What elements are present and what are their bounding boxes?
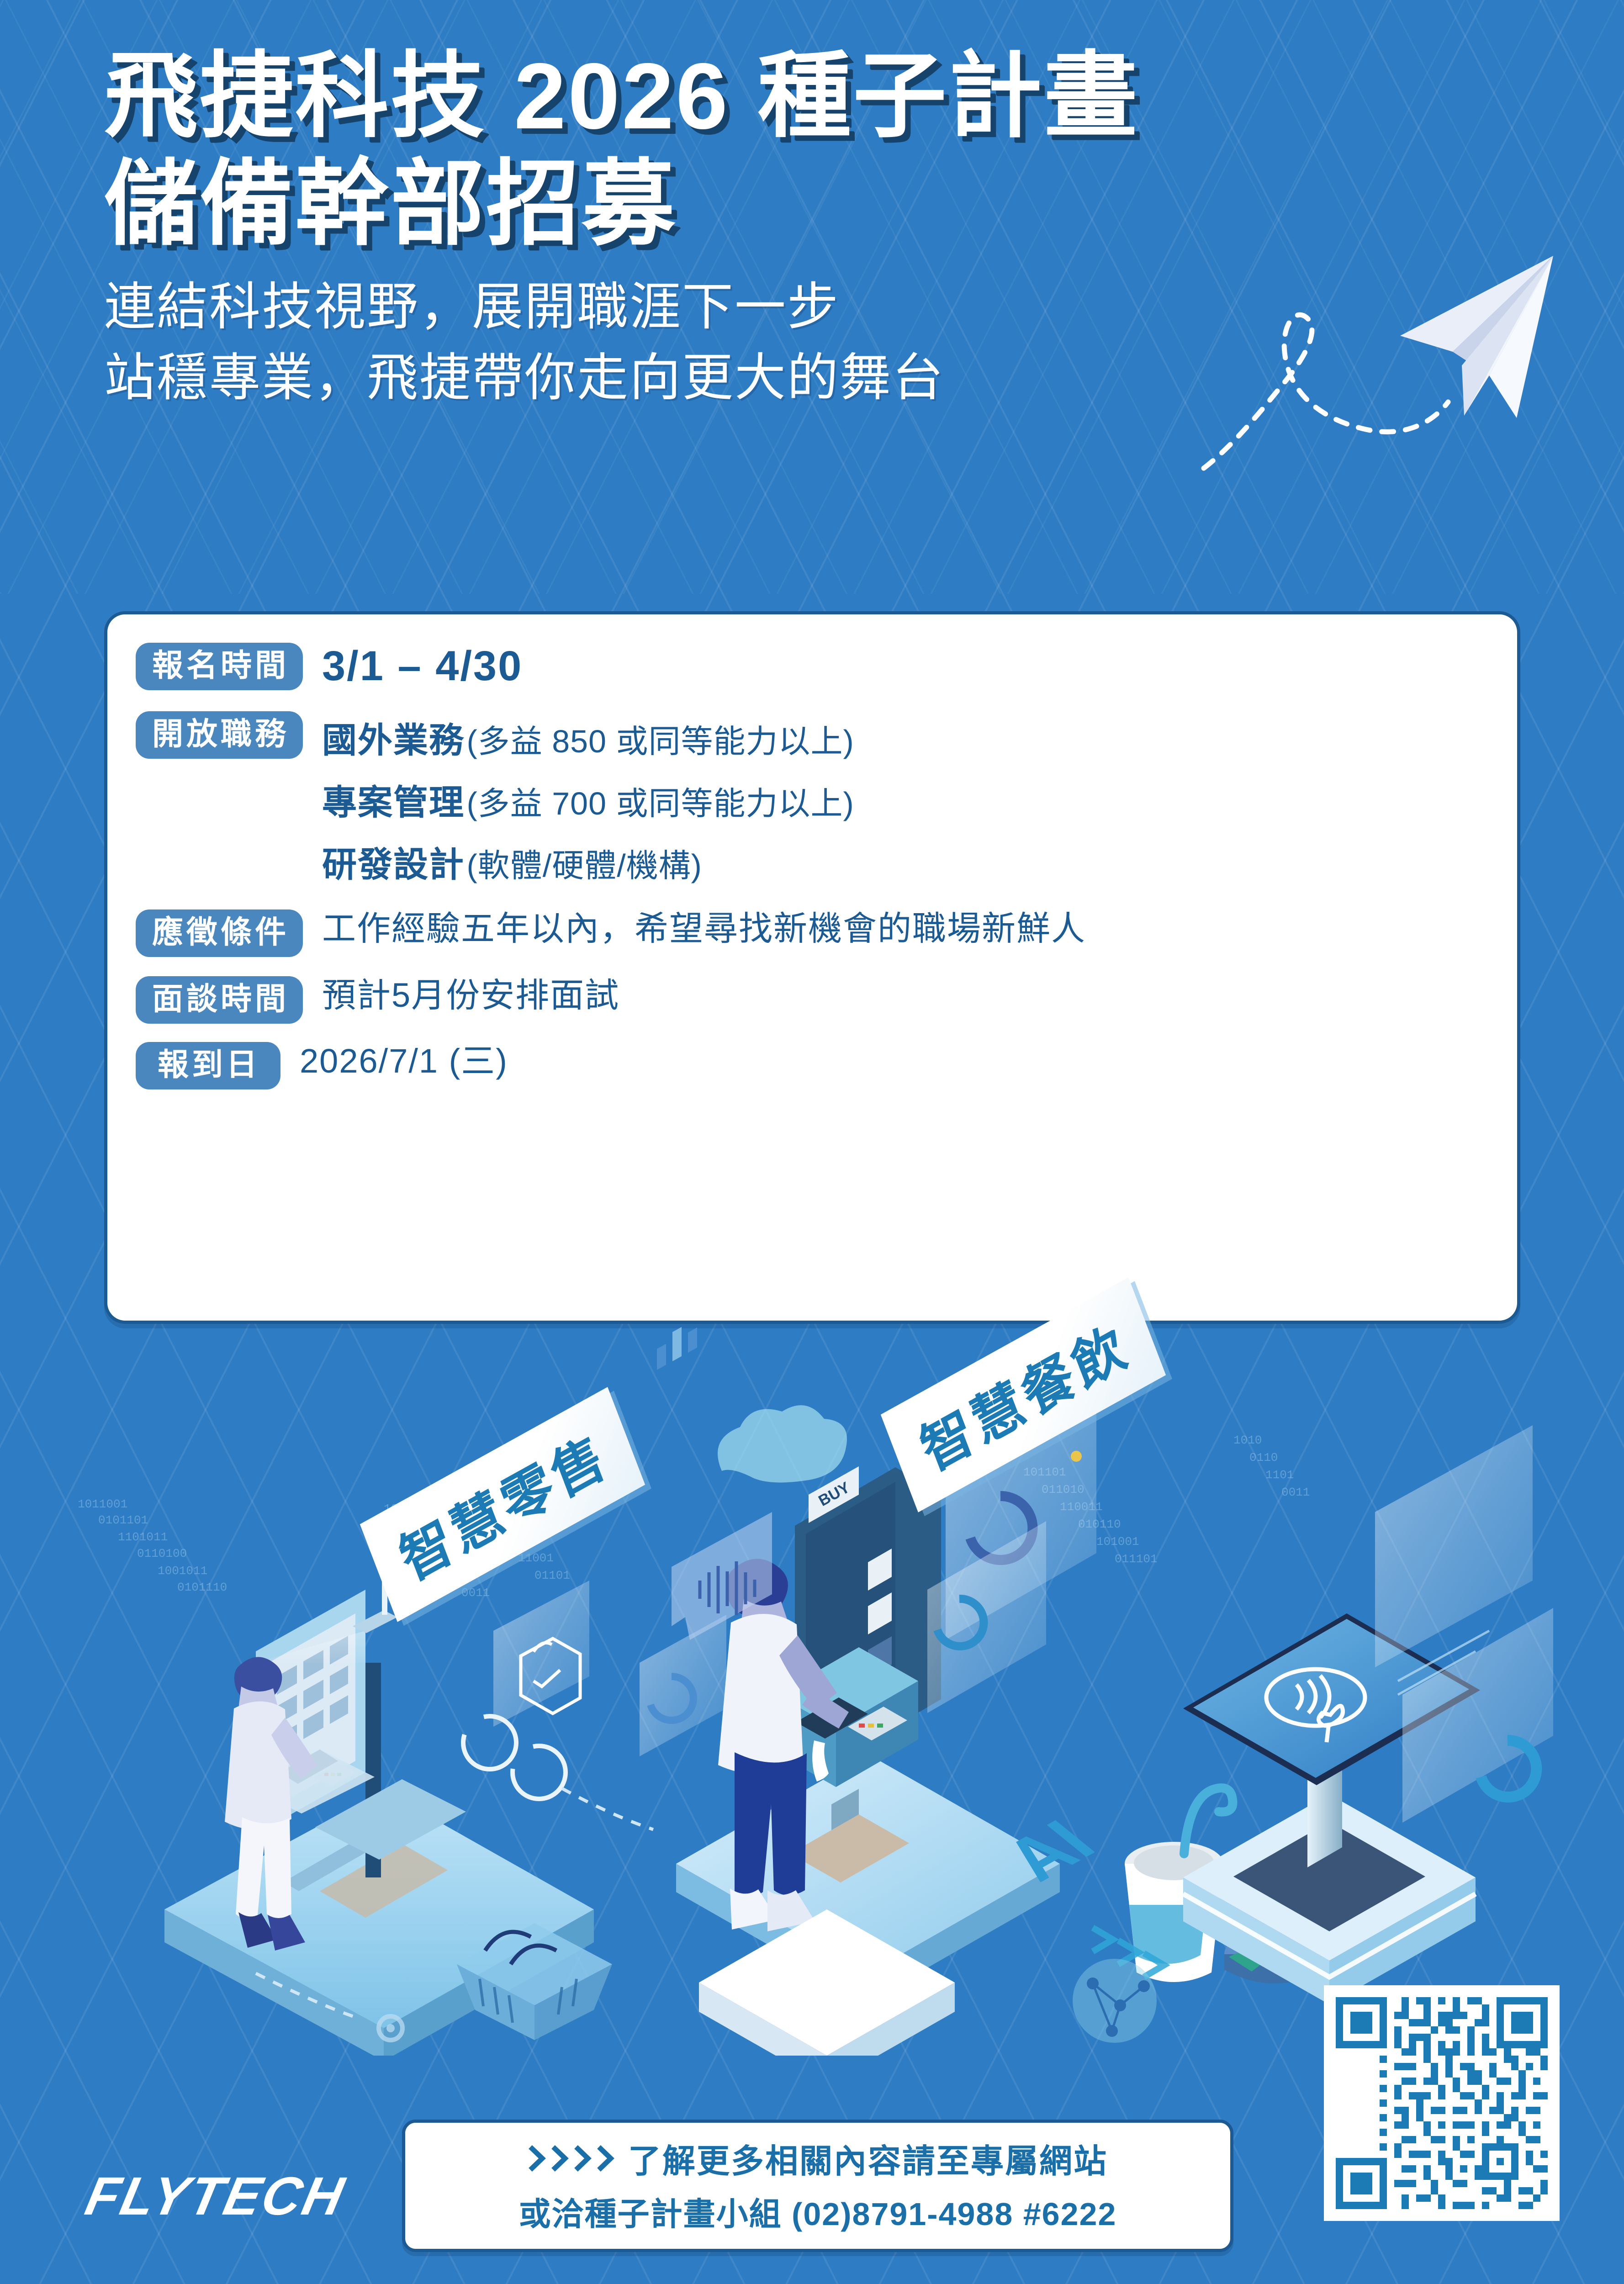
value-wrap-registration-period: 3/1 – 4/30 — [322, 643, 523, 689]
retail-kiosk-screen — [269, 1613, 355, 1810]
dining-dashboard-card-1 — [946, 1316, 1096, 1640]
retail-platform-side-r — [384, 1909, 594, 2056]
job-note: (軟體/硬體/機構) — [466, 848, 702, 883]
payment-base-side-l — [1183, 1877, 1329, 2004]
sign-smart-retail: 智慧零售 — [360, 1387, 645, 1622]
retail-platform-top — [164, 1791, 594, 2028]
contact-info-box: 了解更多相關內容請至專屬網站 或洽種子計畫小組 (02)8791-4988 #6… — [402, 2120, 1233, 2252]
payment-screen-frame — [1183, 1613, 1480, 1785]
svg-text:0011: 0011 — [461, 1586, 490, 1600]
payment-floating-card-donut — [1402, 1316, 1553, 1823]
binary-rain-texture: 10110010101101 11010110110100 1001011010… — [78, 1433, 1310, 1600]
scene-smart-dining: BUY — [672, 1316, 1325, 2002]
retail-keypad — [315, 1763, 356, 1786]
svg-text:1101: 1101 — [445, 1570, 474, 1583]
dining-platform-top — [676, 1754, 1060, 1973]
dining-dashboard-card-2 — [927, 1316, 1046, 1713]
info-row-open-positions: 開放職務 國外業務 (多益 850 或同等能力以上) 專案管理 (多益 700 … — [136, 711, 1499, 887]
svg-text:1101: 1101 — [1265, 1468, 1294, 1482]
camera-mast — [382, 1571, 387, 1615]
value-onboarding-date: 2026/7/1 (三) — [300, 1043, 508, 1079]
info-row-onboarding-date: 報到日 2026/7/1 (三) — [136, 1042, 1499, 1089]
retail-shopper-figure — [225, 1657, 317, 1951]
scene-smart-payment — [1183, 1316, 1553, 2004]
camera-scan-cone — [256, 1631, 365, 1663]
retail-floating-card-bag — [493, 1581, 589, 1727]
kiosk-pole — [365, 1663, 381, 1877]
dining-kiosk-pole — [831, 1789, 859, 1875]
svg-text:0101101: 0101101 — [98, 1513, 148, 1527]
retail-floating-card-chart — [640, 1327, 726, 1756]
camera-head — [353, 1610, 397, 1633]
payment-screen — [1193, 1619, 1469, 1778]
dining-menu-thumbnails — [868, 1549, 892, 1678]
dining-terminal-side — [777, 1695, 836, 1787]
receipt-paper — [812, 1740, 829, 1782]
value-registration-period: 3/1 – 4/30 — [322, 644, 523, 689]
job-note: (多益 700 或同等能力以上) — [466, 786, 854, 821]
svg-text:010110: 010110 — [1078, 1517, 1121, 1531]
shopping-basket-icon — [457, 1923, 612, 2040]
label-open-positions: 開放職務 — [136, 711, 303, 759]
payment-light-streaks — [1398, 1631, 1489, 1695]
burger-icon — [1224, 1910, 1325, 1983]
svg-text:011101: 011101 — [1115, 1552, 1158, 1566]
poster-header: 飛捷科技 2026 種子計畫 儲備幹部招募 連結科技視野，展開職涯下一步 站穩專… — [104, 44, 1429, 413]
ai-block: AI — [699, 1808, 1111, 2056]
retail-ring-2 — [513, 1746, 566, 1799]
svg-text:101001: 101001 — [1096, 1535, 1139, 1549]
svg-text:01101: 01101 — [534, 1569, 570, 1582]
retail-kiosk-screen-frame — [256, 1590, 365, 1834]
dining-keypad — [848, 1707, 907, 1740]
recruitment-poster: 飛捷科技 2026 種子計畫 儲備幹部招募 連結科技視野，展開職涯下一步 站穩專… — [0, 0, 1624, 2284]
payment-inset — [1233, 1822, 1425, 1931]
value-wrap-requirements: 工作經驗五年以內，希望尋找新機會的職場新鮮人 — [322, 909, 1086, 947]
voice-bubble — [672, 1512, 772, 1640]
job-name: 專案管理 — [322, 783, 465, 822]
value-wrap-interview-period: 預計5月份安排面試 — [322, 976, 619, 1014]
qr-code-svg — [1336, 1997, 1548, 2209]
poster-subtitle-line-2: 站穩專業，飛捷帶你走向更大的舞台 — [104, 343, 1429, 413]
poster-title-line-1: 飛捷科技 2026 種子計畫 — [104, 44, 1429, 149]
svg-text:011010: 011010 — [1042, 1483, 1084, 1496]
buy-tag: BUY — [809, 1466, 859, 1523]
poster-subtitle-line-1: 連結科技視野，展開職涯下一步 — [104, 272, 1429, 343]
svg-text:0101110: 0101110 — [177, 1581, 227, 1594]
info-row-registration-period: 報名時間 3/1 – 4/30 — [136, 643, 1499, 690]
value-requirements: 工作經驗五年以內，希望尋找新機會的職場新鮮人 — [322, 910, 1086, 947]
dining-kiosk-screen — [806, 1482, 895, 1729]
cloud-icon — [718, 1405, 847, 1482]
info-rows: 報名時間 3/1 – 4/30 開放職務 國外業務 (多益 850 或同等能力以… — [136, 636, 1499, 1089]
drink-cup-icon — [1125, 1788, 1233, 1982]
buy-tag-text: BUY — [815, 1479, 852, 1510]
label-registration-period: 報名時間 — [136, 643, 303, 690]
retail-card-reader — [280, 1750, 338, 1784]
payment-base-light — [1183, 1894, 1476, 1977]
chevrons-icon — [528, 2144, 617, 2173]
recruitment-info-card: 報名時間 3/1 – 4/30 開放職務 國外業務 (多益 850 或同等能力以… — [104, 611, 1520, 1324]
dining-terminal-front — [836, 1681, 918, 1787]
svg-text:1011: 1011 — [413, 1536, 442, 1550]
svg-text:0011: 0011 — [1281, 1486, 1310, 1499]
dining-platform-side-l — [676, 1864, 868, 2002]
dining-kiosk-base — [790, 1814, 909, 1882]
value-wrap-open-positions: 國外業務 (多益 850 或同等能力以上) 專案管理 (多益 700 或同等能力… — [322, 711, 854, 887]
motion-chevrons — [1093, 1928, 1164, 1977]
payment-floating-card-bars — [1375, 1316, 1533, 1667]
job-item: 專案管理 (多益 700 或同等能力以上) — [322, 774, 854, 825]
isometric-illustration: 10110010101101 11010110110100 1001011010… — [0, 1316, 1624, 2056]
svg-text:10110: 10110 — [484, 1517, 520, 1530]
dining-terminal-top — [777, 1647, 918, 1729]
dining-slot — [796, 1697, 868, 1739]
payment-stand — [1307, 1746, 1342, 1867]
molecule-network-icon — [1073, 1959, 1157, 2043]
svg-text:1011001: 1011001 — [78, 1497, 127, 1511]
svg-text:1001: 1001 — [384, 1502, 412, 1516]
retail-dashed-link-2 — [256, 1973, 361, 2019]
job-item: 研發設計 (軟體/硬體/機構) — [322, 836, 854, 887]
svg-text:1101011: 1101011 — [118, 1530, 168, 1544]
dining-platform-side-r — [868, 1864, 1060, 2002]
poster-title-line-2: 儲備幹部招募 — [104, 152, 1429, 257]
job-item: 國外業務 (多益 850 或同等能力以上) — [322, 712, 854, 762]
svg-text:0101: 0101 — [429, 1553, 458, 1567]
svg-text:01011: 01011 — [502, 1534, 537, 1548]
retail-counter — [247, 1750, 375, 1813]
dining-kiosk-body — [795, 1467, 941, 1758]
svg-text:0110100: 0110100 — [137, 1547, 187, 1560]
svg-text:1001011: 1001011 — [158, 1564, 207, 1578]
illustration-svg: 10110010101101 11010110110100 1001011010… — [0, 1316, 1624, 2056]
dining-customer-figure — [718, 1559, 849, 1931]
retail-platform-side-l — [164, 1909, 384, 2056]
ai-block-label: AI — [988, 1808, 1111, 1893]
job-note: (多益 850 或同等能力以上) — [466, 724, 854, 759]
svg-text:110011: 110011 — [1060, 1500, 1103, 1514]
label-requirements: 應徵條件 — [136, 909, 303, 957]
kiosk-base-plate — [320, 1844, 448, 1918]
value-interview-period: 預計5月份安排面試 — [322, 977, 619, 1014]
svg-text:0110: 0110 — [1249, 1451, 1278, 1465]
retail-ring-1 — [463, 1716, 516, 1769]
contact-text-primary: 了解更多相關內容請至專屬網站 — [628, 2134, 1108, 2182]
svg-text:11001: 11001 — [518, 1551, 554, 1565]
info-row-requirements: 應徵條件 工作經驗五年以內，希望尋找新機會的職場新鮮人 — [136, 909, 1499, 957]
flytech-logo: FLYTECH — [80, 2165, 351, 2227]
kiosk-foot — [283, 1835, 381, 1891]
qr-code[interactable] — [1324, 1985, 1560, 2221]
payment-base-top — [1183, 1794, 1476, 1961]
job-name: 研發設計 — [322, 846, 465, 884]
label-interview-period: 面談時間 — [136, 976, 303, 1024]
job-name: 國外業務 — [322, 721, 465, 760]
svg-text:101101: 101101 — [1023, 1465, 1066, 1479]
svg-text:0110: 0110 — [398, 1519, 427, 1533]
retail-side-table — [315, 1779, 466, 1860]
scene-smart-retail — [164, 1327, 726, 2056]
contact-line-primary: 了解更多相關內容請至專屬網站 — [528, 2134, 1108, 2182]
contact-text-secondary: 或洽種子計畫小組 (02)8791-4988 #6222 — [519, 2189, 1117, 2235]
svg-text:1010: 1010 — [1233, 1433, 1262, 1447]
gear-icon — [379, 2016, 402, 2040]
retail-dashed-link — [562, 1788, 653, 1829]
label-onboarding-date: 報到日 — [136, 1042, 280, 1089]
value-wrap-onboarding-date: 2026/7/1 (三) — [300, 1042, 508, 1079]
retail-kiosk-screen-grid — [277, 1636, 348, 1754]
contactless-icon — [1266, 1669, 1365, 1742]
info-row-interview-period: 面談時間 預計5月份安排面試 — [136, 976, 1499, 1024]
